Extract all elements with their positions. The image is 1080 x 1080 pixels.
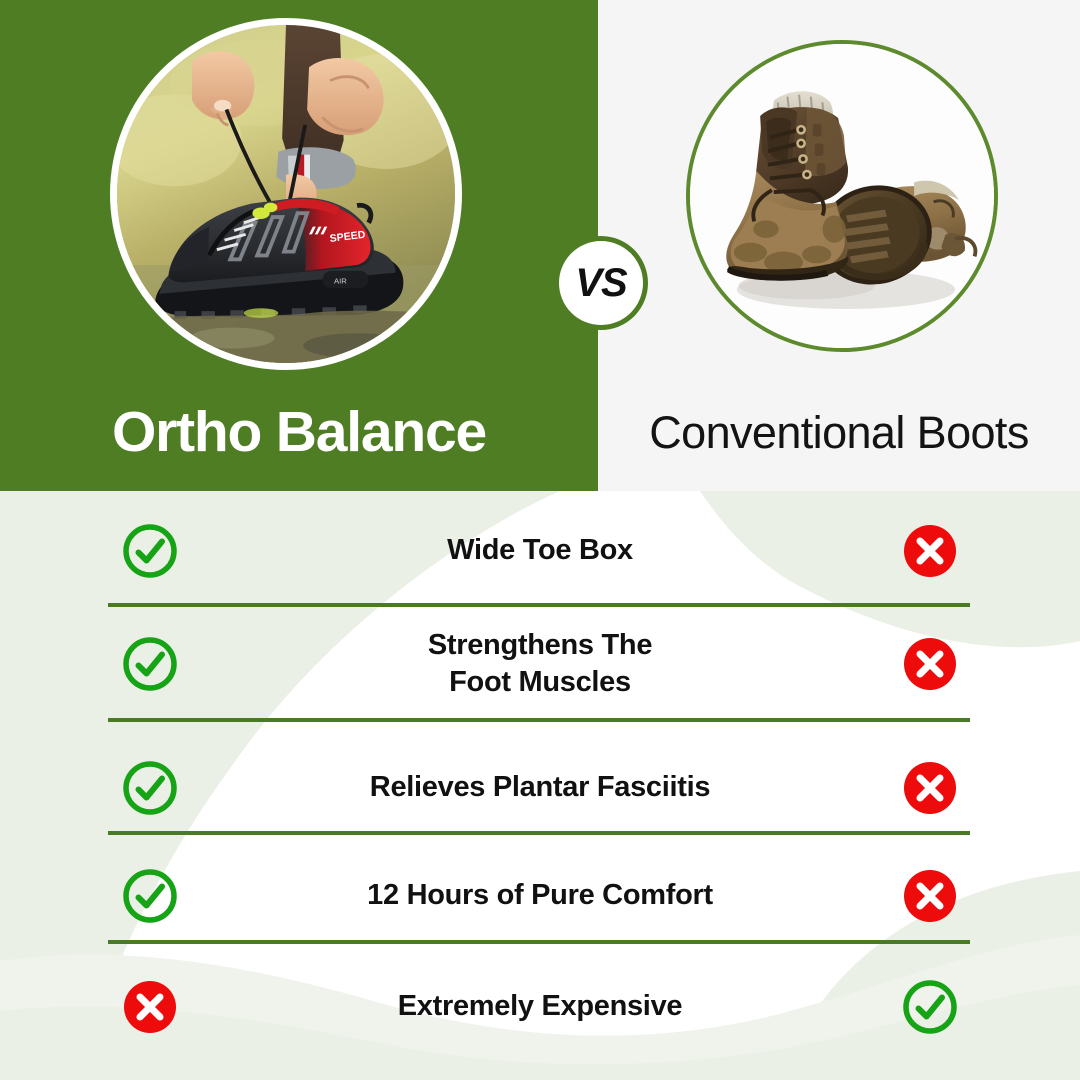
product-image-conventional-boots (686, 40, 998, 352)
cross-circle-icon (901, 759, 959, 817)
row-divider (108, 603, 970, 607)
table-row: Extremely Expensive (0, 974, 1080, 1040)
feature-label-line: 12 Hours of Pure Comfort (300, 877, 780, 914)
feature-label-line: Foot Muscles (300, 664, 780, 701)
row-2-right-status (780, 635, 1080, 693)
table-row: Relieves Plantar Fasciitis (0, 755, 1080, 821)
feature-label-line: Wide Toe Box (300, 532, 780, 569)
row-3-feature-label: Relieves Plantar Fasciitis (300, 769, 780, 806)
table-row: Wide Toe Box (0, 518, 1080, 584)
column-title-ortho-balance: Ortho Balance (0, 404, 598, 461)
row-4-right-status (780, 867, 1080, 925)
check-circle-icon (121, 759, 179, 817)
feature-label-line: Strengthens The (300, 627, 780, 664)
cross-circle-icon (901, 522, 959, 580)
feature-label-line: Extremely Expensive (300, 988, 780, 1025)
row-1-feature-label: Wide Toe Box (300, 532, 780, 569)
cross-circle-icon (901, 635, 959, 693)
column-title-conventional-boots: Conventional Boots (598, 410, 1080, 455)
row-3-right-status (780, 759, 1080, 817)
table-row: 12 Hours of Pure Comfort (0, 863, 1080, 929)
row-3-left-status (0, 759, 300, 817)
check-circle-icon (121, 635, 179, 693)
comparison-table: Wide Toe Box Strengthens The Foot Muscle… (0, 491, 1080, 1080)
cross-circle-icon (121, 978, 179, 1036)
row-2-left-status (0, 635, 300, 693)
row-5-left-status (0, 978, 300, 1036)
comparison-infographic: SPEED AIR (0, 0, 1080, 1080)
svg-text:AIR: AIR (334, 276, 347, 285)
feature-label-line: Relieves Plantar Fasciitis (300, 769, 780, 806)
check-circle-icon (121, 867, 179, 925)
product-image-ortho-balance: SPEED AIR (110, 18, 462, 370)
row-1-left-status (0, 522, 300, 580)
row-5-right-status (780, 978, 1080, 1036)
row-5-feature-label: Extremely Expensive (300, 988, 780, 1025)
table-row: Strengthens The Foot Muscles (0, 619, 1080, 709)
row-2-feature-label: Strengthens The Foot Muscles (300, 627, 780, 701)
row-divider (108, 718, 970, 722)
check-circle-icon (121, 522, 179, 580)
row-4-left-status (0, 867, 300, 925)
row-divider (108, 831, 970, 835)
check-circle-icon (901, 978, 959, 1036)
vs-badge: VS (554, 236, 648, 330)
athletic-shoe-illustration: SPEED AIR (117, 25, 455, 363)
row-4-feature-label: 12 Hours of Pure Comfort (300, 877, 780, 914)
muddy-hiking-boots-illustration (690, 44, 994, 348)
row-divider (108, 940, 970, 944)
cross-circle-icon (901, 867, 959, 925)
hero-section: SPEED AIR (0, 0, 1080, 491)
row-1-right-status (780, 522, 1080, 580)
vs-label: VS (575, 263, 626, 303)
